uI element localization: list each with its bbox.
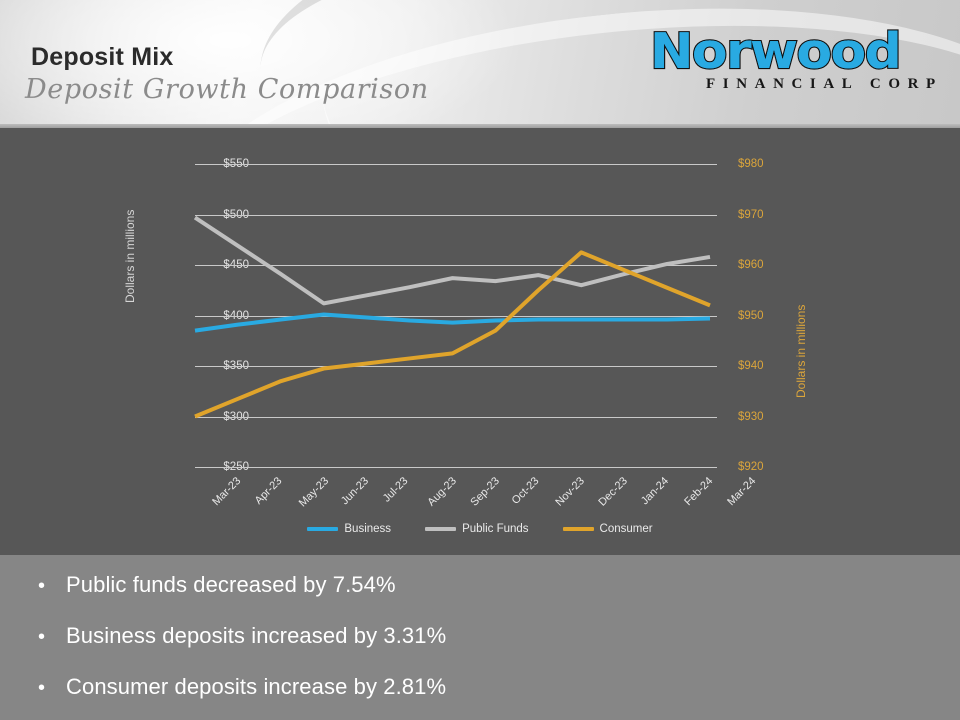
bullet-item: •Public funds decreased by 7.54% — [38, 572, 396, 598]
bullet-item: •Consumer deposits increase by 2.81% — [38, 674, 446, 700]
right-axis-tickmark — [710, 164, 717, 165]
page-title: Deposit Mix — [31, 43, 174, 72]
bullet-text: Consumer deposits increase by 2.81% — [66, 674, 446, 700]
legend-swatch-icon — [307, 527, 338, 531]
legend-swatch-icon — [563, 527, 594, 531]
chart-panel: Dollars in millions Dollars in millions … — [0, 128, 960, 555]
right-axis-tickmark — [710, 366, 717, 367]
legend-item-consumer[interactable]: Consumer — [563, 523, 653, 535]
legend-item-business[interactable]: Business — [307, 523, 391, 535]
right-axis-tick-label: $940 — [738, 360, 764, 372]
bullet-marker-icon: • — [38, 627, 66, 647]
right-axis-tickmark — [710, 316, 717, 317]
right-axis-tick-label: $930 — [738, 411, 764, 423]
chart-legend: BusinessPublic FundsConsumer — [0, 523, 960, 535]
logo-wordmark-fill: Norwood — [650, 26, 900, 78]
legend-swatch-icon — [425, 527, 456, 531]
right-axis-tick-label: $980 — [738, 158, 764, 170]
series-lines — [195, 164, 710, 467]
right-axis-tick-label: $950 — [738, 310, 764, 322]
slide-header: Deposit Mix Deposit Growth Comparison No… — [0, 0, 960, 128]
right-axis-tickmark — [710, 265, 717, 266]
bullet-marker-icon: • — [38, 678, 66, 698]
legend-item-label: Public Funds — [462, 523, 528, 535]
legend-item-label: Consumer — [600, 523, 653, 535]
gridline — [195, 467, 710, 468]
right-axis-tick-label: $970 — [738, 209, 764, 221]
right-axis-tickmark — [710, 467, 717, 468]
right-axis-ticks: $920$930$940$950$960$970$980 — [738, 128, 858, 555]
bullets-panel: •Public funds decreased by 7.54%•Busines… — [0, 555, 960, 720]
line-series-business — [195, 314, 710, 330]
norwood-logo: Norwood Norwood FINANCIAL CORP — [650, 26, 945, 98]
bullet-item: •Business deposits increased by 3.31% — [38, 623, 446, 649]
page-subtitle: Deposit Growth Comparison — [25, 74, 429, 105]
right-axis-tick-label: $920 — [738, 461, 764, 473]
right-axis-tickmark — [710, 417, 717, 418]
right-axis-tickmark — [710, 215, 717, 216]
line-series-public-funds — [195, 218, 710, 304]
logo-tagline: FINANCIAL CORP — [706, 76, 943, 93]
plot-area — [195, 164, 710, 467]
slide: Deposit Mix Deposit Growth Comparison No… — [0, 0, 960, 720]
legend-item-label: Business — [344, 523, 391, 535]
right-axis-tick-label: $960 — [738, 259, 764, 271]
chart-inner: Dollars in millions Dollars in millions … — [0, 128, 960, 555]
bullet-text: Business deposits increased by 3.31% — [66, 623, 446, 649]
legend-item-public-funds[interactable]: Public Funds — [425, 523, 528, 535]
bullet-text: Public funds decreased by 7.54% — [66, 572, 396, 598]
bullet-marker-icon: • — [38, 576, 66, 596]
